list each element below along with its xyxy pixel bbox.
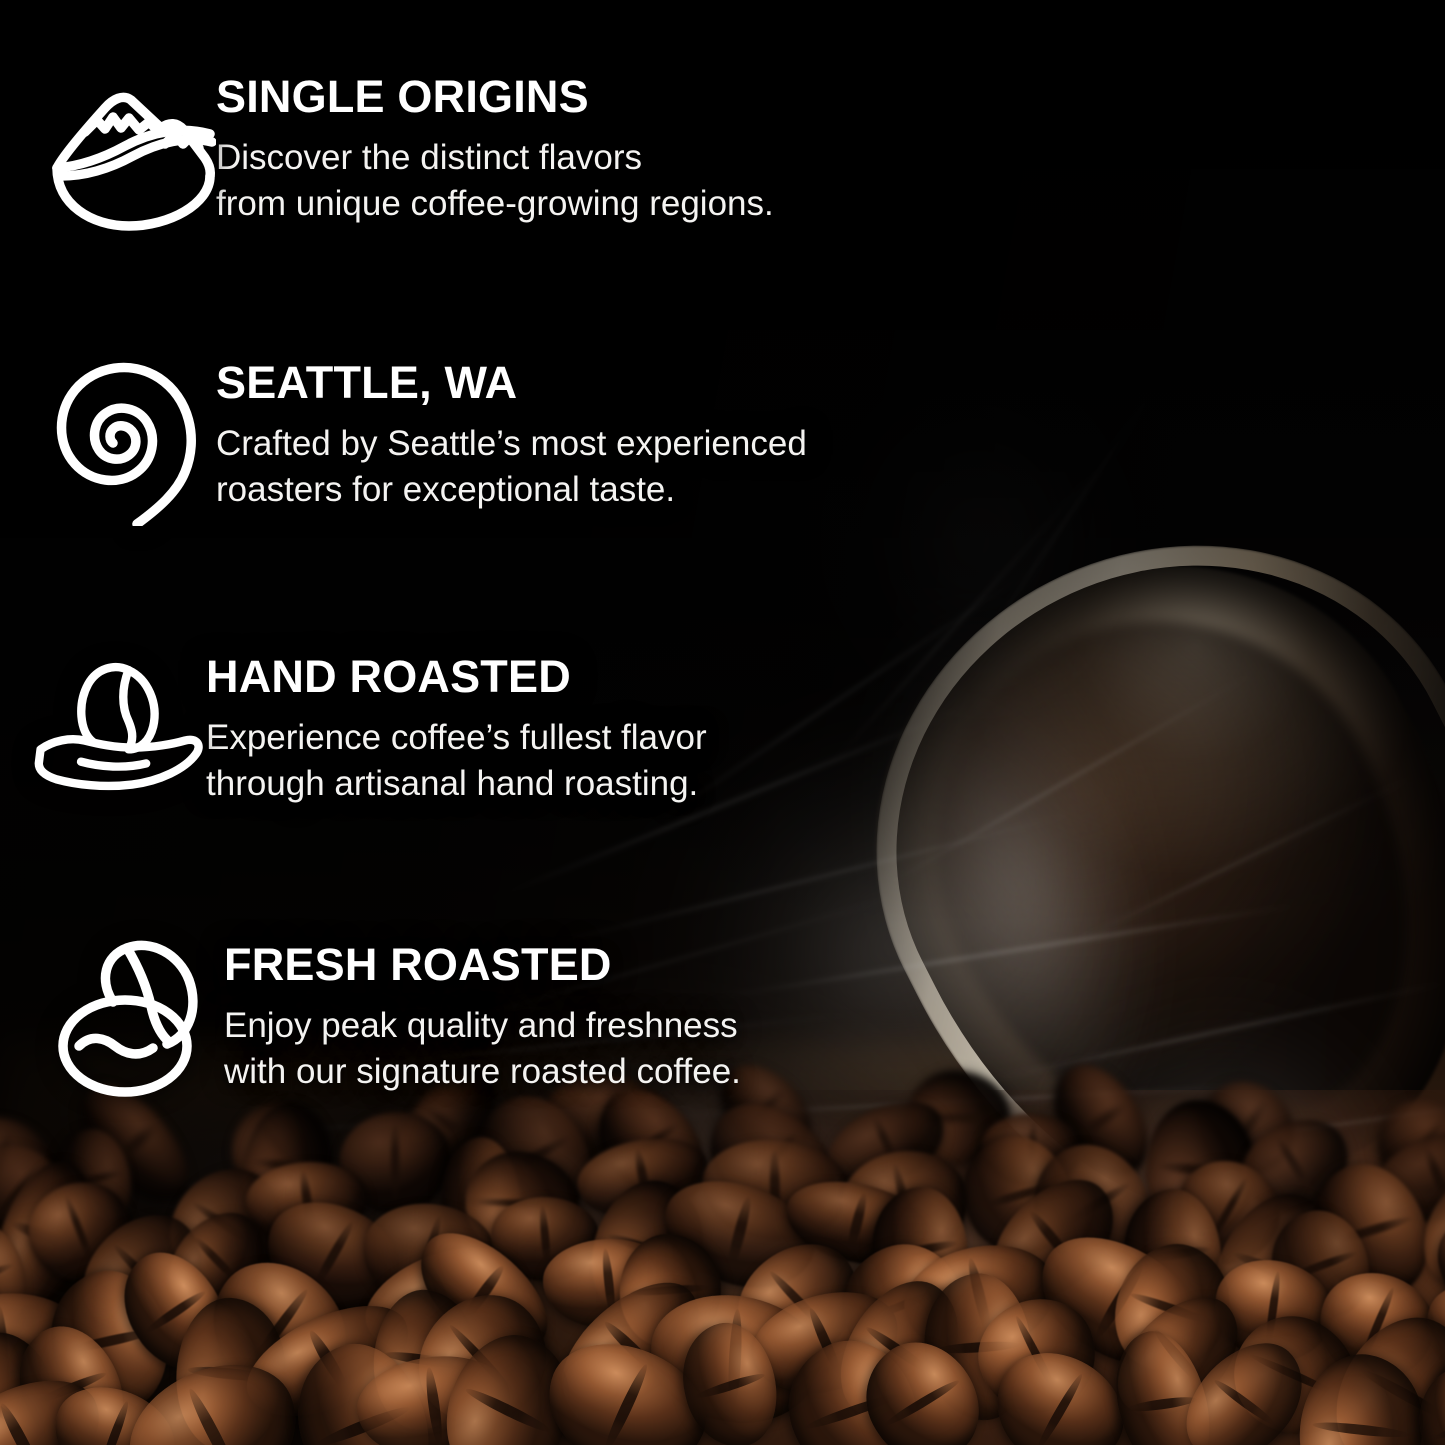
feature-description-line: through artisanal hand roasting. <box>206 761 1100 807</box>
feature-item-single-origins: SINGLE ORIGINS Discover the distinct fla… <box>40 72 1110 232</box>
feature-description-line: Experience coffee’s fullest flavor <box>206 715 1100 761</box>
feature-description: Experience coffee’s fullest flavor throu… <box>206 715 1100 806</box>
feature-title: FRESH ROASTED <box>224 942 1118 987</box>
feature-description: Discover the distinct flavors from uniqu… <box>216 135 1110 226</box>
feature-text-block: SEATTLE, WA Crafted by Seattle’s most ex… <box>216 358 1110 512</box>
feature-description-line: Discover the distinct flavors <box>216 135 1110 181</box>
feature-text-block: HAND ROASTED Experience coffee’s fullest… <box>206 652 1100 806</box>
feature-description-line: Crafted by Seattle’s most experienced <box>216 421 1110 467</box>
feature-item-seattle: SEATTLE, WA Crafted by Seattle’s most ex… <box>40 358 1110 526</box>
feature-description-line: with our signature roasted coffee. <box>224 1049 1118 1095</box>
feature-title: HAND ROASTED <box>206 654 1100 699</box>
fingerprint-spiral-icon <box>40 358 216 526</box>
feature-text-block: SINGLE ORIGINS Discover the distinct fla… <box>216 72 1110 226</box>
feature-text-block: FRESH ROASTED Enjoy peak quality and fre… <box>224 940 1118 1094</box>
two-coffee-beans-icon <box>48 940 224 1100</box>
feature-list: SINGLE ORIGINS Discover the distinct fla… <box>0 0 1445 1445</box>
feature-description: Crafted by Seattle’s most experienced ro… <box>216 421 1110 512</box>
feature-description: Enjoy peak quality and freshness with ou… <box>224 1003 1118 1094</box>
marketing-feature-panel: SINGLE ORIGINS Discover the distinct fla… <box>0 0 1445 1445</box>
hand-holding-bean-icon <box>30 652 206 808</box>
feature-description-line: from unique coffee-growing regions. <box>216 181 1110 227</box>
mountain-coffee-bean-icon <box>40 72 216 232</box>
feature-title: SINGLE ORIGINS <box>216 74 1110 119</box>
feature-title: SEATTLE, WA <box>216 360 1110 405</box>
feature-item-fresh-roasted: FRESH ROASTED Enjoy peak quality and fre… <box>48 940 1118 1100</box>
feature-description-line: Enjoy peak quality and freshness <box>224 1003 1118 1049</box>
feature-description-line: roasters for exceptional taste. <box>216 467 1110 513</box>
feature-item-hand-roasted: HAND ROASTED Experience coffee’s fullest… <box>30 652 1100 808</box>
